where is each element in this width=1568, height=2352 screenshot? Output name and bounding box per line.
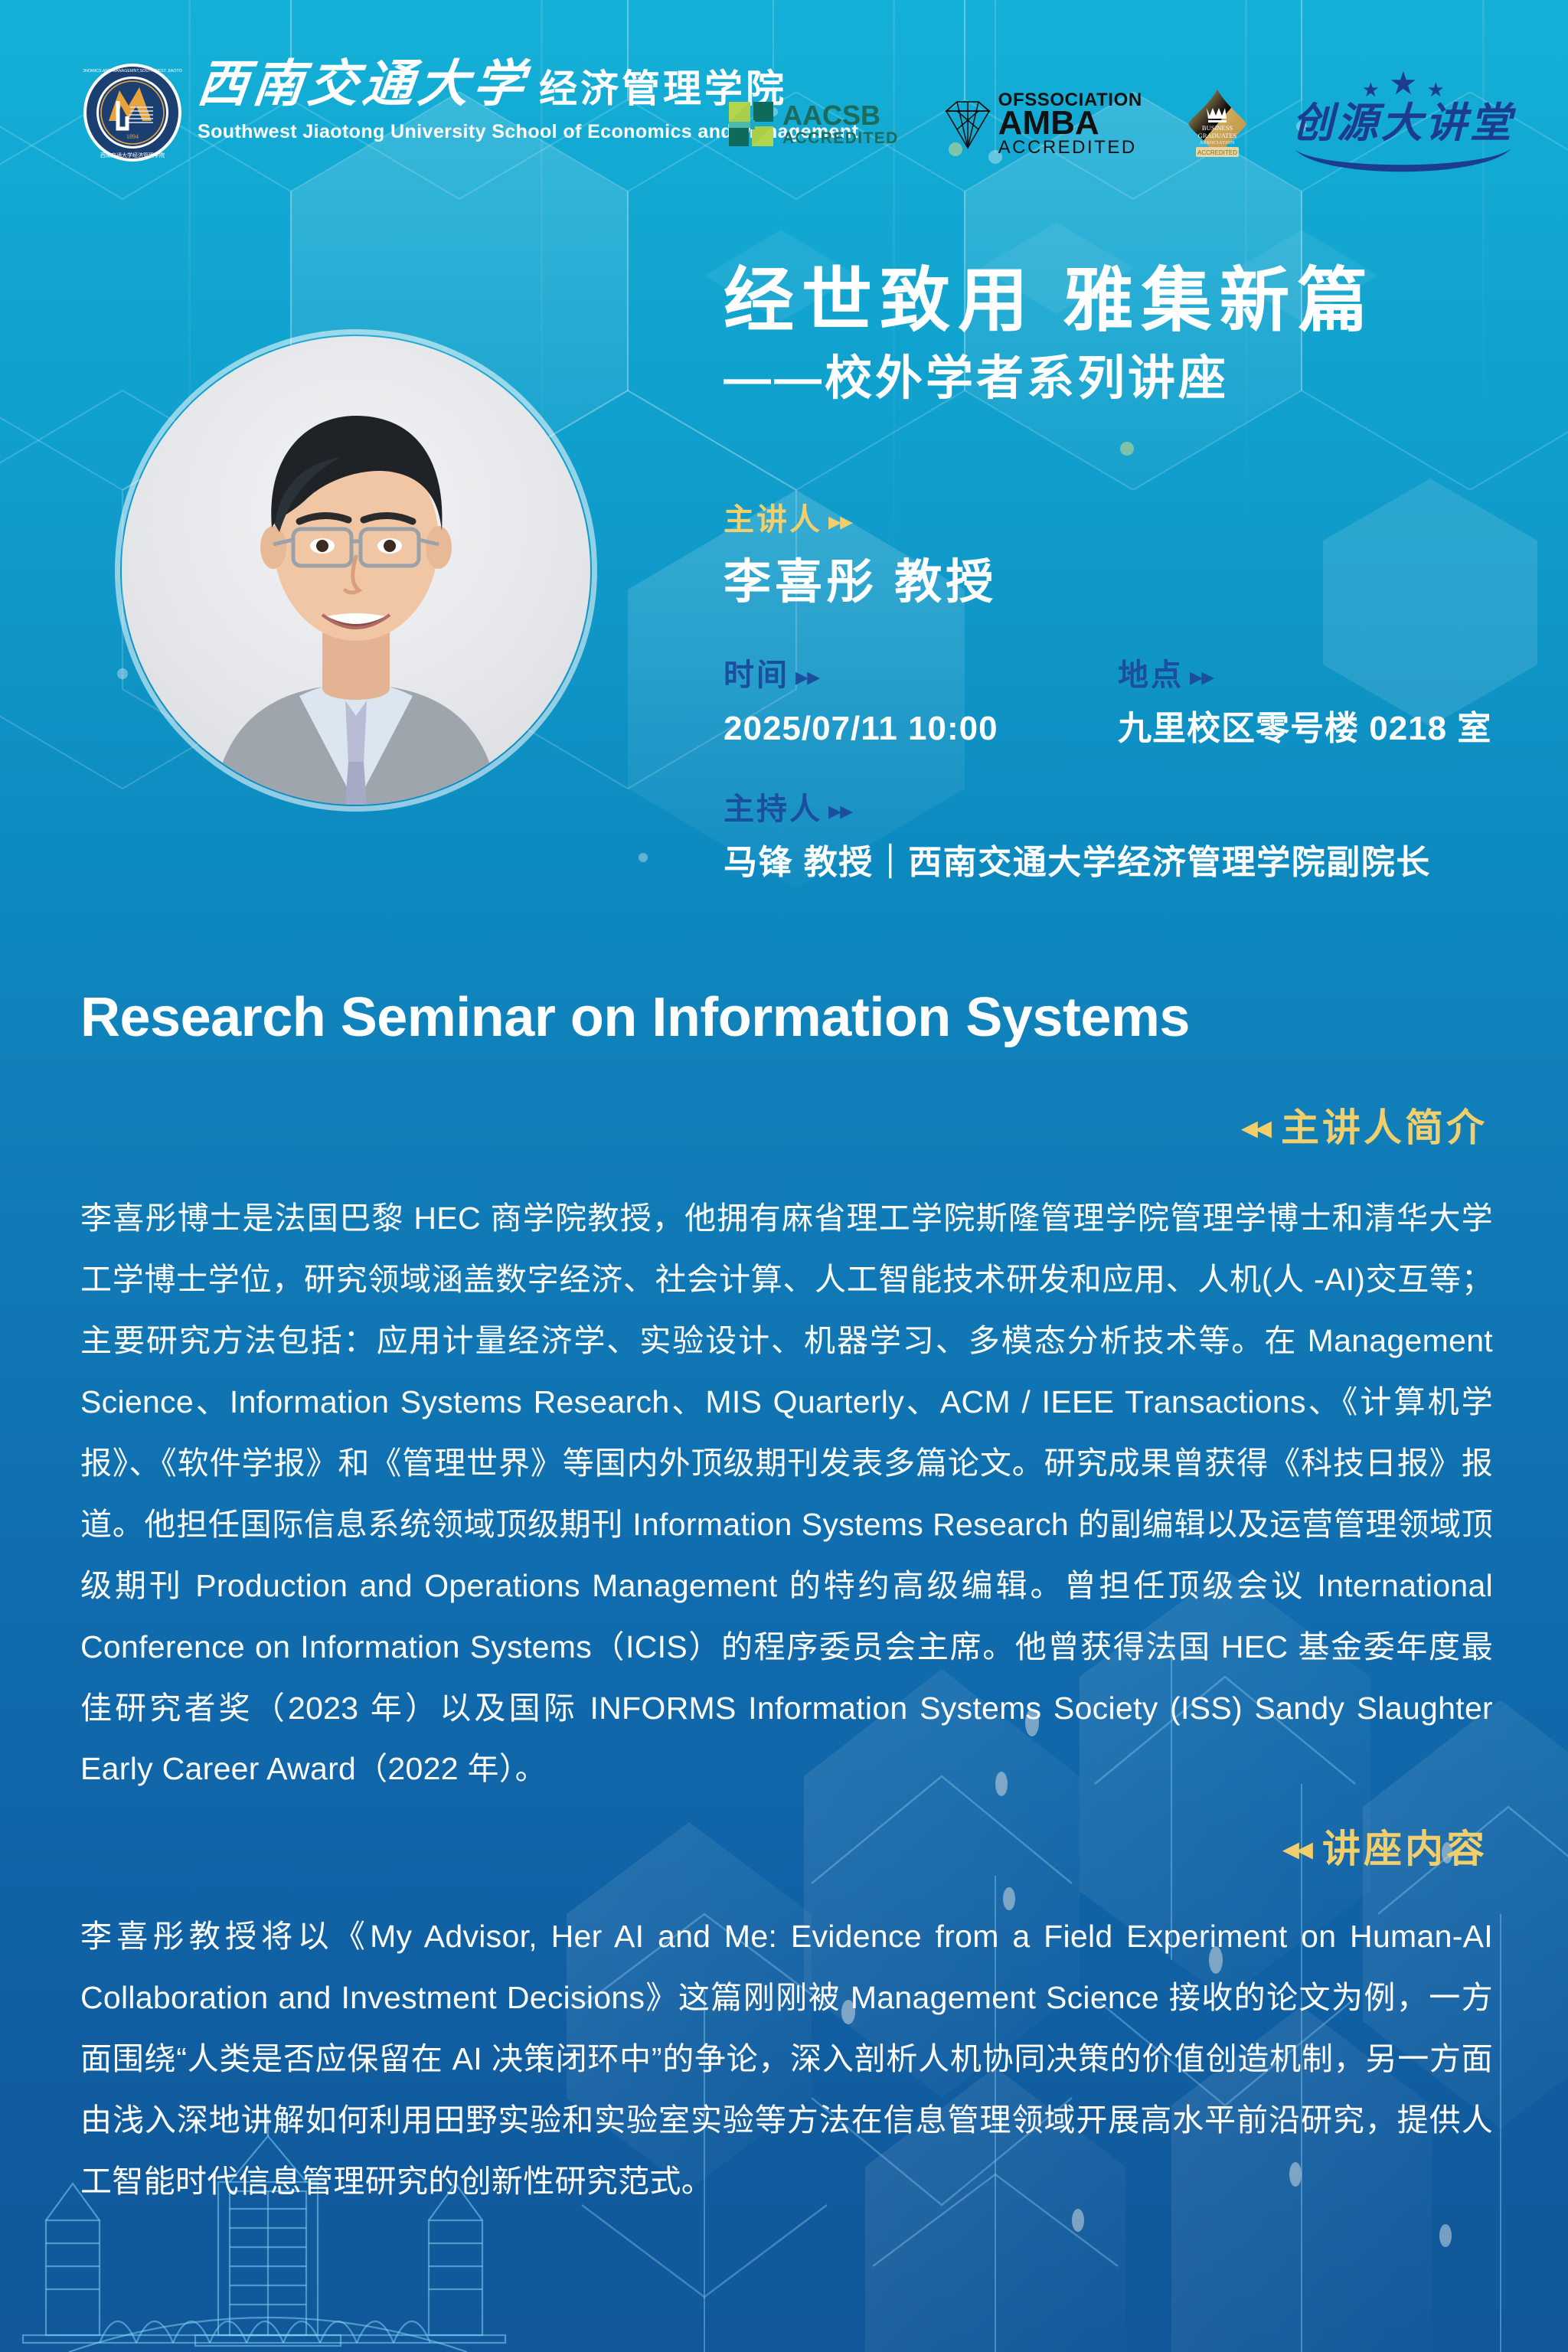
arrow-icon: ▸▸ bbox=[795, 662, 818, 691]
poster-title-block: 经世致用 雅集新篇 ——校外学者系列讲座 bbox=[724, 264, 1520, 405]
chuangyuan-brand: ★ ★ ★ 创源大讲堂 bbox=[1292, 67, 1514, 181]
time-place-row: 时间▸▸ 2025/07/11 10:00 地点▸▸ 九里校区零号楼 0218 … bbox=[724, 657, 1535, 750]
bga-accreditation: BUSINESS GRADUATES ASSOCIATION ACCREDITE… bbox=[1185, 88, 1249, 160]
arrow-icon: ▸▸ bbox=[1190, 662, 1213, 691]
caret-left-icon: ◂◂ bbox=[1282, 1832, 1310, 1866]
bga-shield-icon: BUSINESS GRADUATES ASSOCIATION ACCREDITE… bbox=[1185, 88, 1249, 160]
aacsb-logo-icon bbox=[727, 100, 775, 148]
three-stars-icon: ★ ★ ★ bbox=[1362, 67, 1445, 100]
amba-accreditation: OFSSOCIATION AMBA ACCREDITED bbox=[942, 91, 1142, 157]
swoosh-icon bbox=[1292, 145, 1514, 181]
university-name-cn: 西南交通大学 bbox=[195, 60, 531, 110]
svg-text:ASSOCIATION: ASSOCIATION bbox=[1200, 141, 1235, 145]
time-value: 2025/07/11 10:00 bbox=[724, 709, 1118, 750]
speaker-label: 主讲人 bbox=[724, 503, 822, 537]
svg-text:BUSINESS: BUSINESS bbox=[1202, 124, 1233, 132]
place-value: 九里校区零号楼 0218 室 bbox=[1118, 709, 1516, 750]
section-heading-content: ◂◂ 讲座内容 bbox=[1282, 1830, 1488, 1868]
aacsb-accreditation: AACSB ACCREDITED bbox=[727, 100, 899, 148]
caret-left-icon: ◂◂ bbox=[1241, 1111, 1269, 1145]
host-label-row: 主持人▸▸ bbox=[724, 791, 1535, 828]
poster-root: 1894 SCHOOL OF ECONOMICS AND MANAGEMNT,S… bbox=[0, 0, 1568, 2352]
place-label-row: 地点▸▸ bbox=[1118, 657, 1516, 694]
svg-text:GRADUATES: GRADUATES bbox=[1198, 132, 1237, 139]
time-label: 时间 bbox=[724, 658, 789, 692]
page-title: 经世致用 雅集新篇 bbox=[724, 264, 1520, 339]
aacsb-status: ACCREDITED bbox=[782, 130, 899, 146]
arrow-icon: ▸▸ bbox=[828, 507, 851, 536]
seminar-english-title: Research Seminar on Information Systems bbox=[80, 988, 1497, 1048]
host-row: 主持人▸▸ 马锋 教授｜西南交通大学经济管理学院副院长 bbox=[724, 791, 1535, 884]
time-column: 时间▸▸ 2025/07/11 10:00 bbox=[724, 657, 1118, 750]
section-heading-bio: ◂◂ 主讲人简介 bbox=[1241, 1109, 1488, 1147]
host-value: 马锋 教授｜西南交通大学经济管理学院副院长 bbox=[724, 843, 1535, 884]
svg-text:ACCREDITED: ACCREDITED bbox=[1197, 149, 1237, 156]
amba-name: AMBA bbox=[998, 106, 1142, 140]
swjtu-sem-crest-icon: 1894 SCHOOL OF ECONOMICS AND MANAGEMNT,S… bbox=[83, 63, 182, 162]
section-title-content: 讲座内容 bbox=[1322, 1830, 1488, 1868]
speaker-name: 李喜彤 教授 bbox=[724, 555, 1535, 609]
amba-diamond-icon bbox=[942, 97, 994, 151]
speaker-label-row: 主讲人▸▸ bbox=[724, 501, 1535, 538]
svg-text:1894: 1894 bbox=[126, 133, 139, 140]
accreditation-logos: AACSB ACCREDITED bbox=[727, 67, 1514, 181]
section-title-bio: 主讲人简介 bbox=[1281, 1109, 1488, 1147]
lecture-content-text: 李喜彤教授将以《My Advisor, Her AI and Me: Evide… bbox=[80, 1906, 1493, 2213]
poster-header: 1894 SCHOOL OF ECONOMICS AND MANAGEMNT,S… bbox=[0, 0, 1568, 191]
speaker-portrait bbox=[122, 336, 590, 805]
speaker-bio-text: 李喜彤博士是法国巴黎 HEC 商学院教授，他拥有麻省理工学院斯隆管理学院管理学博… bbox=[80, 1188, 1493, 1800]
time-label-row: 时间▸▸ bbox=[724, 657, 1118, 694]
svg-text:SCHOOL OF ECONOMICS AND MANAGE: SCHOOL OF ECONOMICS AND MANAGEMNT,SOUTHW… bbox=[83, 69, 182, 73]
arrow-icon: ▸▸ bbox=[828, 796, 851, 825]
host-label: 主持人 bbox=[724, 792, 822, 826]
place-label: 地点 bbox=[1118, 658, 1184, 692]
aacsb-name: AACSB bbox=[782, 102, 899, 130]
speaker-portrait-frame bbox=[115, 329, 597, 812]
page-subtitle: ——校外学者系列讲座 bbox=[724, 353, 1520, 405]
svg-text:西南交通大学经济管理学院: 西南交通大学经济管理学院 bbox=[100, 152, 165, 158]
portrait-illustration bbox=[122, 336, 590, 805]
amba-status: ACCREDITED bbox=[998, 139, 1142, 157]
place-column: 地点▸▸ 九里校区零号楼 0218 室 bbox=[1118, 657, 1516, 750]
chuangyuan-label: 创源大讲堂 bbox=[1292, 103, 1514, 144]
event-meta-block: 主讲人▸▸ 李喜彤 教授 时间▸▸ 2025/07/11 10:00 地点▸▸ … bbox=[724, 501, 1535, 884]
